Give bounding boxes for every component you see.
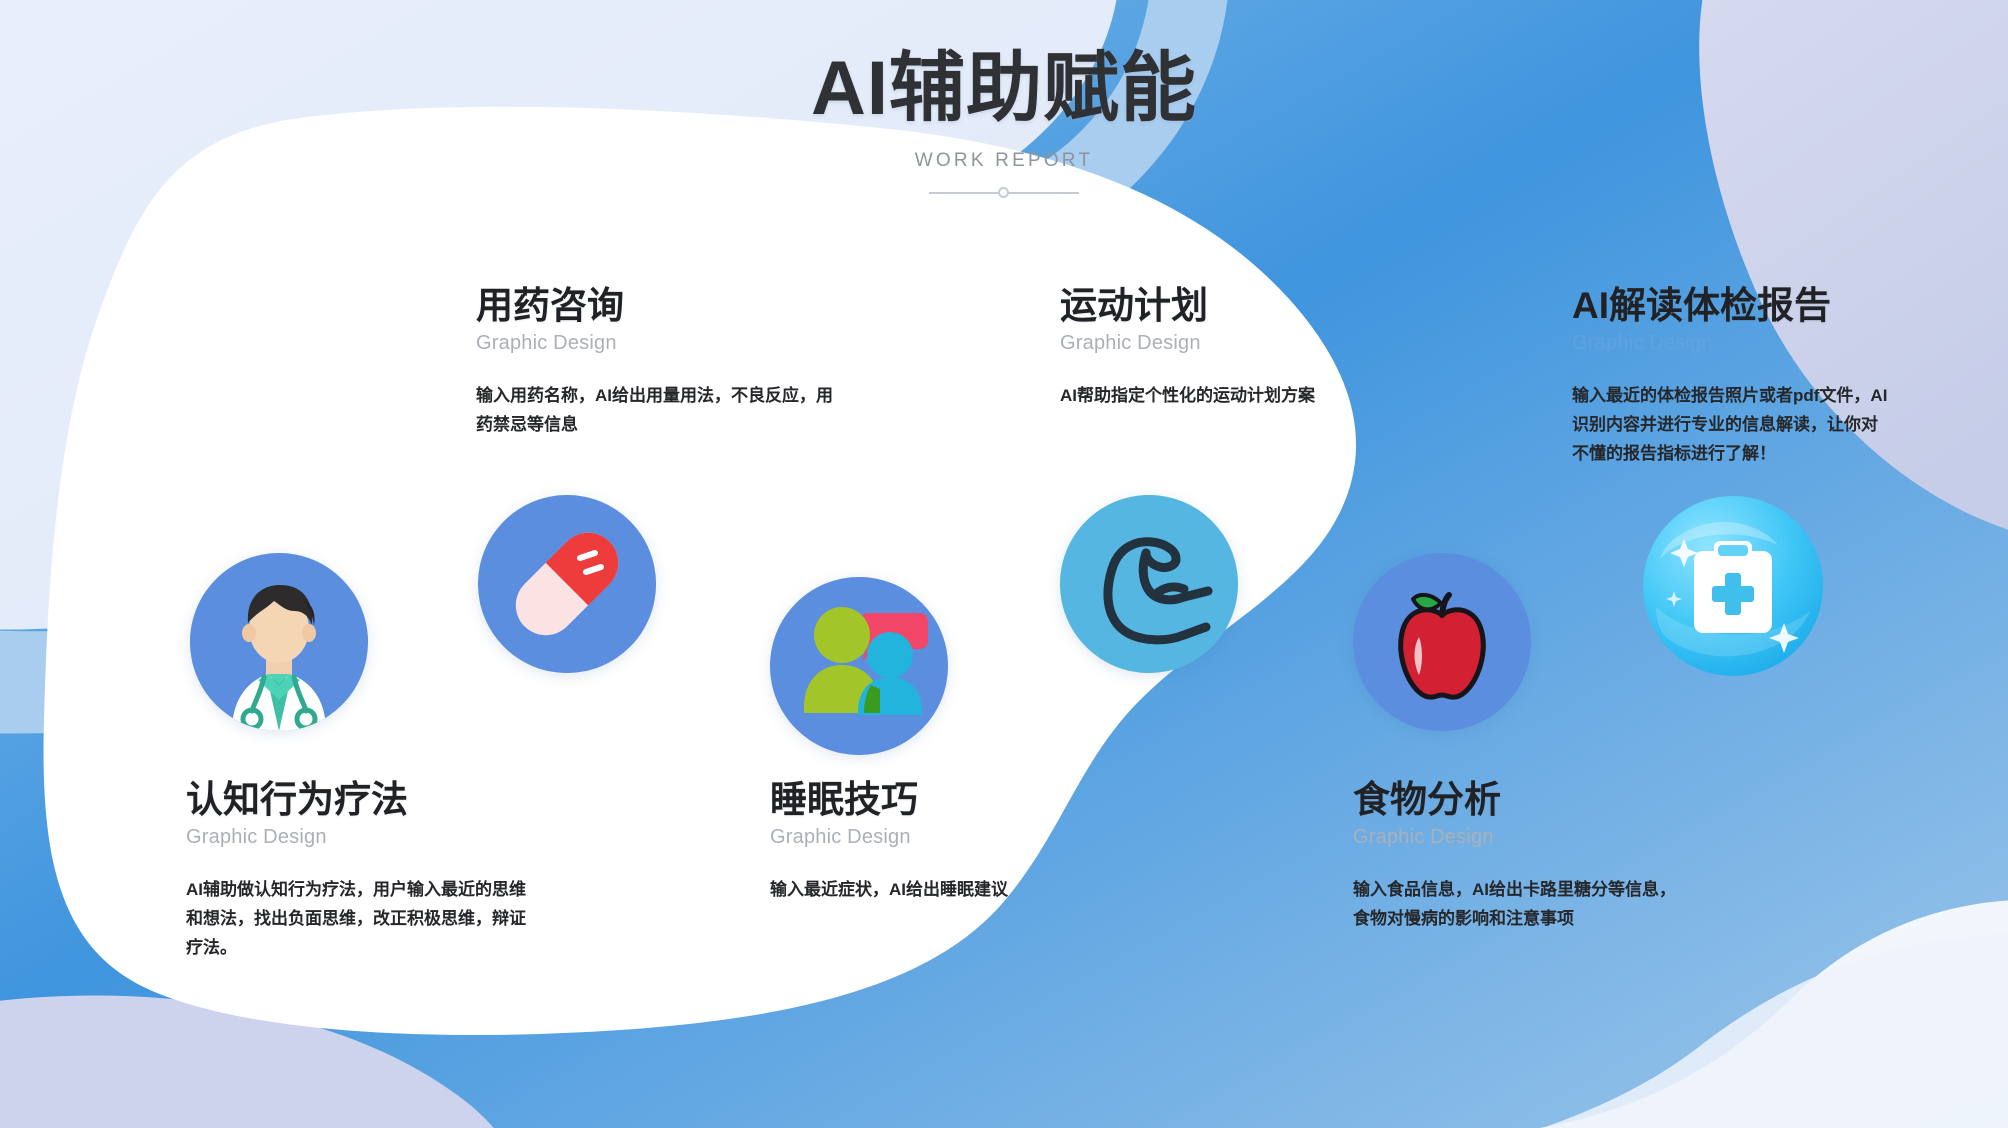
doctor-avatar-glyph [190,553,368,731]
block-subtitle: Graphic Design [770,826,1090,849]
block-cbt: 认知行为疗法 Graphic Design AI辅助做认知行为疗法，用户输入最近… [186,778,526,962]
slide-canvas: AI辅助赋能 WORK REPORT [0,0,2008,1128]
people-chat-icon[interactable] [770,577,948,755]
block-description: 输入最近症状，AI给出睡眠建议 [770,875,1090,904]
block-report: AI解读体检报告 Graphic Design 输入最近的体检报告照片或者pdf… [1572,284,1894,468]
apple-icon[interactable] [1353,553,1531,731]
block-title: 用药咨询 [476,284,836,328]
block-title: AI解读体检报告 [1572,284,1894,328]
block-description: AI帮助指定个性化的运动计划方案 [1060,381,1370,410]
block-description: 输入最近的体检报告照片或者pdf文件，AI识别内容并进行专业的信息解读，让你对不… [1572,381,1894,469]
muscle-arm-glyph [1060,495,1238,673]
block-title: 食物分析 [1353,778,1687,822]
apple-glyph [1353,553,1531,731]
pill-glyph [478,495,656,673]
title-divider [929,186,1079,200]
slide-header: AI辅助赋能 WORK REPORT [0,44,2008,200]
block-medication: 用药咨询 Graphic Design 输入用药名称，AI给出用量用法，不良反应… [476,284,836,439]
block-food: 食物分析 Graphic Design 输入食品信息，AI给出卡路里糖分等信息，… [1353,778,1687,933]
medical-clipboard-glyph [1642,495,1824,677]
muscle-arm-icon[interactable] [1060,495,1238,673]
block-title: 认知行为疗法 [186,778,526,822]
block-description: 输入用药名称，AI给出用量用法，不良反应，用药禁忌等信息 [476,381,836,439]
divider-dot [998,187,1009,198]
block-subtitle: Graphic Design [476,332,836,355]
block-title: 运动计划 [1060,284,1370,328]
doctor-avatar-icon[interactable] [190,553,368,731]
block-title: 睡眠技巧 [770,778,1090,822]
block-exercise: 运动计划 Graphic Design AI帮助指定个性化的运动计划方案 [1060,284,1370,410]
page-title: AI辅助赋能 [0,44,2008,134]
block-subtitle: Graphic Design [1572,332,1894,355]
block-description: AI辅助做认知行为疗法，用户输入最近的思维和想法，找出负面思维，改正积极思维，辩… [186,875,526,963]
page-subtitle: WORK REPORT [0,150,2008,172]
people-chat-glyph [770,577,948,755]
block-subtitle: Graphic Design [1353,826,1687,849]
block-subtitle: Graphic Design [186,826,526,849]
block-sleep: 睡眠技巧 Graphic Design 输入最近症状，AI给出睡眠建议 [770,778,1090,904]
medical-clipboard-icon[interactable] [1642,495,1824,677]
pill-icon[interactable] [478,495,656,673]
block-subtitle: Graphic Design [1060,332,1370,355]
block-description: 输入食品信息，AI给出卡路里糖分等信息，食物对慢病的影响和注意事项 [1353,875,1687,933]
